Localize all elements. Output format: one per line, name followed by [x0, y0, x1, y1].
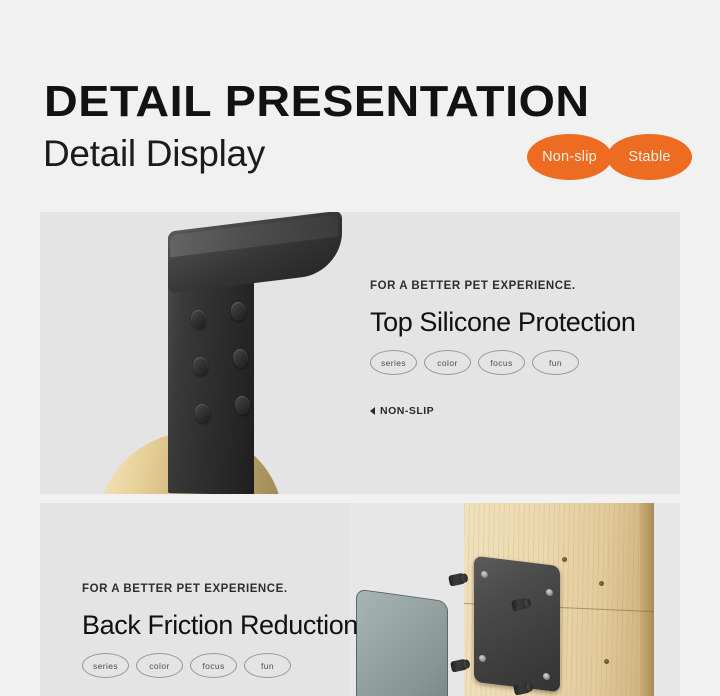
tag-fun[interactable]: fun	[532, 350, 579, 375]
panel-headline: Top Silicone Protection	[370, 306, 635, 338]
page-subtitle: Detail Display	[43, 131, 265, 177]
triangle-left-icon	[370, 407, 375, 415]
detail-panel-back-friction: FOR A BETTER PET EXPERIENCE. Back Fricti…	[40, 503, 680, 696]
panel-footnote: NON-SLIP	[370, 405, 635, 417]
page-title: DETAIL PRESENTATION	[44, 78, 590, 126]
panel-text-block: FOR A BETTER PET EXPERIENCE. Back Fricti…	[82, 583, 358, 678]
panel-footnote-label: NON-SLIP	[380, 405, 434, 417]
panel-eyebrow: FOR A BETTER PET EXPERIENCE.	[82, 583, 358, 595]
wood-drill-hole	[599, 581, 604, 586]
panel-headline: Back Friction Reduction	[82, 609, 358, 641]
plate-screw-hole	[479, 655, 486, 663]
detail-panel-top-silicone: FOR A BETTER PET EXPERIENCE. Top Silicon…	[40, 212, 680, 494]
badge-group: Non-slip Stable	[527, 134, 692, 180]
product-image-bracket	[40, 212, 370, 494]
tag-color[interactable]: color	[136, 653, 183, 678]
plate-screw-hole	[546, 589, 553, 597]
wood-drill-hole	[604, 659, 609, 664]
tag-group: series color focus fun	[370, 350, 635, 375]
panel-text-block: FOR A BETTER PET EXPERIENCE. Top Silicon…	[370, 280, 635, 417]
plate-screw-hole	[543, 673, 550, 681]
tag-color[interactable]: color	[424, 350, 471, 375]
wood-drill-hole	[562, 557, 567, 562]
badge-non-slip[interactable]: Non-slip	[527, 134, 612, 180]
tag-fun[interactable]: fun	[244, 653, 291, 678]
tag-series[interactable]: series	[370, 350, 417, 375]
tag-focus[interactable]: focus	[478, 350, 525, 375]
wood-panel-edge	[640, 503, 654, 696]
plate-screw-hole	[481, 571, 488, 579]
tag-group: series color focus fun	[82, 653, 358, 678]
product-image-mount-plate	[350, 503, 680, 696]
tag-focus[interactable]: focus	[190, 653, 237, 678]
tag-series[interactable]: series	[82, 653, 129, 678]
panel-eyebrow: FOR A BETTER PET EXPERIENCE.	[370, 280, 635, 292]
badge-stable[interactable]: Stable	[607, 134, 692, 180]
silicone-back-pad	[356, 589, 448, 696]
page-header: DETAIL PRESENTATION Detail Display Non-s…	[0, 0, 720, 212]
